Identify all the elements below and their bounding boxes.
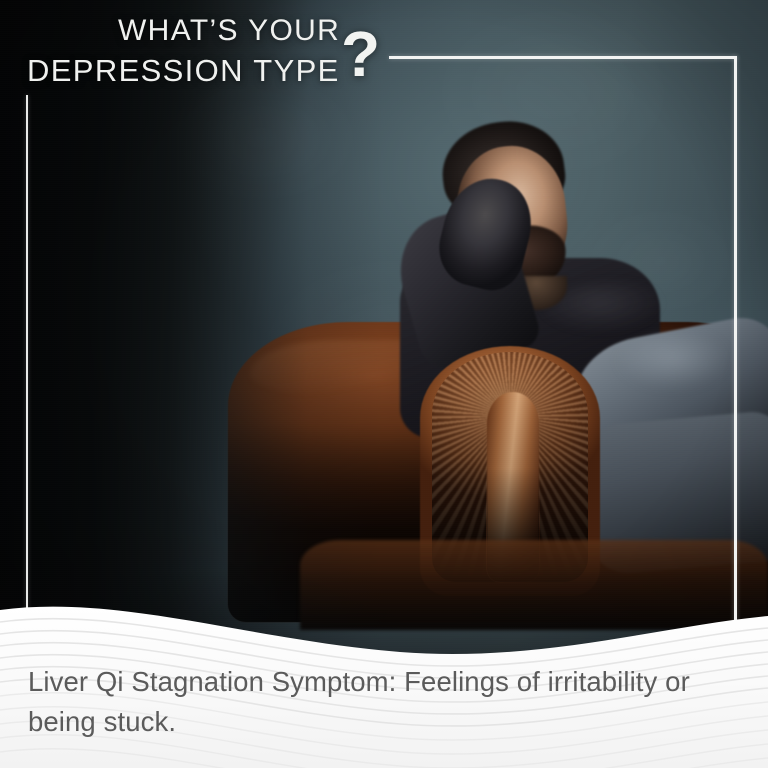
frame-line-left — [26, 95, 28, 617]
frame-line-top — [389, 56, 737, 59]
caption-text: Liver Qi Stagnation Symptom: Feelings of… — [28, 662, 718, 741]
poster-canvas: WHAT’S YOUR DEPRESSION TYPE ? — [0, 0, 768, 768]
frame-line-right — [734, 56, 737, 645]
question-mark-glyph: ? — [341, 22, 380, 86]
